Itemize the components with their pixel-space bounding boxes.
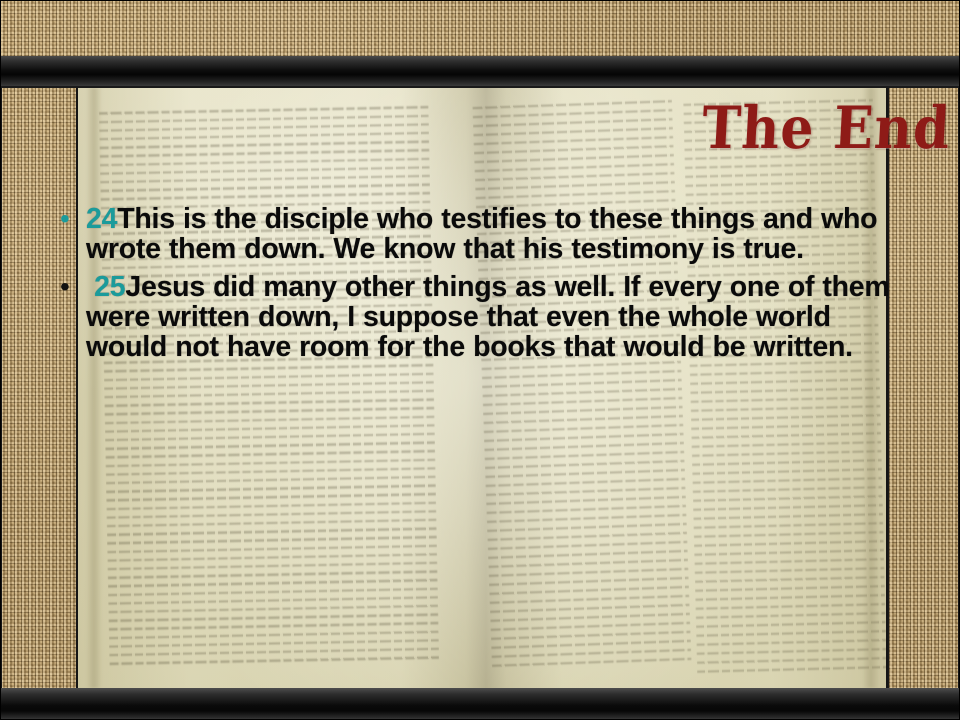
slide-title: The End bbox=[700, 94, 952, 162]
verse-text-24: This is the disciple who testifies to th… bbox=[86, 203, 877, 265]
presentation-slide: The End • 24This is the disciple who tes… bbox=[0, 0, 960, 720]
bullet-item-verse-25: • 25Jesus did many other things as well.… bbox=[52, 272, 896, 362]
book-page-text-right-outer bbox=[683, 96, 886, 675]
bullet-item-verse-24: • 24This is the disciple who testifies t… bbox=[52, 204, 896, 264]
slide-content-frame bbox=[78, 88, 886, 688]
bullet-body-25: 25Jesus did many other things as well. I… bbox=[86, 272, 896, 362]
bottom-frame-bar bbox=[0, 688, 960, 720]
top-frame-bar bbox=[0, 56, 960, 86]
left-burlap-border bbox=[0, 88, 76, 688]
bullet-marker-icon: • bbox=[52, 272, 86, 301]
frame-rule-left-outer bbox=[0, 88, 2, 688]
book-page-text-left bbox=[99, 103, 440, 669]
bullet-marker-icon: • bbox=[52, 204, 86, 233]
frame-rule-right-inner bbox=[886, 88, 888, 688]
right-burlap-border bbox=[889, 88, 960, 688]
slide-body-text: • 24This is the disciple who testifies t… bbox=[52, 204, 896, 370]
book-fore-edge-right bbox=[862, 88, 880, 688]
verse-text-25: Jesus did many other things as well. If … bbox=[86, 271, 890, 363]
book-page-text-right-inner bbox=[472, 97, 692, 674]
book-fore-edge-left bbox=[86, 88, 102, 688]
bullet-body-24: 24This is the disciple who testifies to … bbox=[86, 204, 896, 264]
top-burlap-border bbox=[0, 0, 960, 56]
verse-number-25: 25 bbox=[94, 271, 125, 303]
verse-number-24: 24 bbox=[86, 203, 117, 235]
